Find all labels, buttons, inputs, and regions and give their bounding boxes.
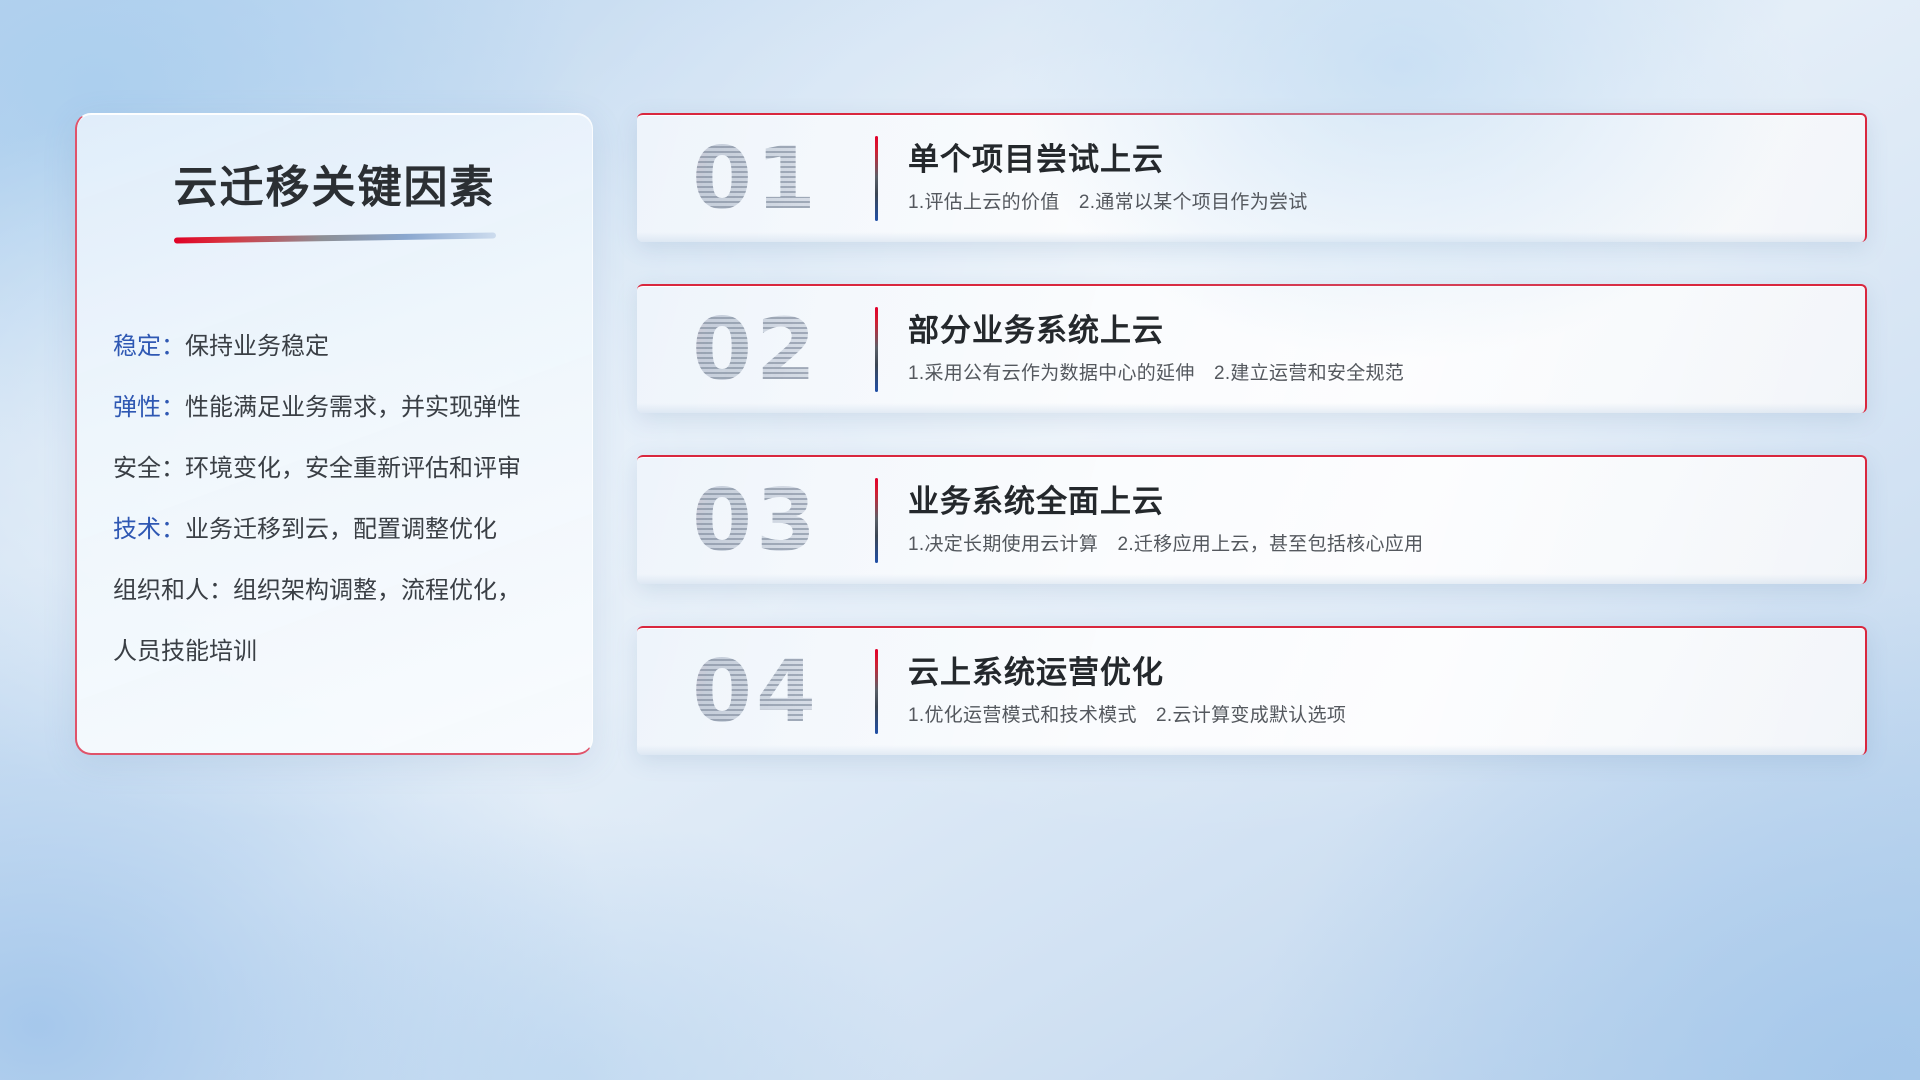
step-number: 04 [637,649,875,735]
step-title: 单个项目尝试上云 [908,141,1845,179]
factor-label: 弹性： [113,394,185,421]
step-divider-bar [875,307,878,392]
factor-label: 组织和人： [113,577,233,604]
list-item: 人员技能培训 [113,621,556,682]
step-card[interactable]: 03 业务系统全面上云 1.决定长期使用云计算 2.迁移应用上云，甚至包括核心应… [637,455,1867,584]
step-title: 部分业务系统上云 [908,312,1845,350]
factor-text: 保持业务稳定 [185,333,329,360]
factor-label: 稳定： [113,333,185,360]
factor-text: 业务迁移到云，配置调整优化 [185,516,497,543]
step-description: 1.采用公有云作为数据中心的延伸 2.建立运营和安全规范 [908,362,1845,387]
step-divider-bar [875,649,878,734]
title-underline-rule [174,232,496,243]
step-title: 业务系统全面上云 [908,483,1845,521]
factor-text: 人员技能培训 [113,638,257,665]
migration-steps-list: 01 单个项目尝试上云 1.评估上云的价值 2.通常以某个项目作为尝试 02 部… [637,113,1867,797]
list-item: 安全：环境变化，安全重新评估和评审 [113,438,556,499]
slide-canvas: 云迁移关键因素 稳定：保持业务稳定 弹性：性能满足业务需求，并实现弹性 安全：环… [0,0,1920,1080]
key-factors-panel: 云迁移关键因素 稳定：保持业务稳定 弹性：性能满足业务需求，并实现弹性 安全：环… [75,113,593,755]
page-title: 云迁移关键因素 [77,151,592,215]
factor-label: 安全： [113,455,185,482]
list-item: 技术：业务迁移到云，配置调整优化 [113,499,556,560]
step-description: 1.决定长期使用云计算 2.迁移应用上云，甚至包括核心应用 [908,533,1845,558]
list-item: 组织和人：组织架构调整，流程优化， [113,560,556,621]
step-body: 业务系统全面上云 1.决定长期使用云计算 2.迁移应用上云，甚至包括核心应用 [908,483,1865,558]
step-body: 云上系统运营优化 1.优化运营模式和技术模式 2.云计算变成默认选项 [908,654,1865,729]
step-card[interactable]: 01 单个项目尝试上云 1.评估上云的价值 2.通常以某个项目作为尝试 [637,113,1867,242]
factor-text: 环境变化，安全重新评估和评审 [185,455,521,482]
list-item: 弹性：性能满足业务需求，并实现弹性 [113,377,556,438]
factor-label: 技术： [113,516,185,543]
step-description: 1.评估上云的价值 2.通常以某个项目作为尝试 [908,191,1845,216]
step-body: 单个项目尝试上云 1.评估上云的价值 2.通常以某个项目作为尝试 [908,141,1865,216]
step-number: 02 [637,307,875,393]
factor-text: 组织架构调整，流程优化， [233,577,521,604]
step-number: 03 [637,478,875,564]
step-description: 1.优化运营模式和技术模式 2.云计算变成默认选项 [908,704,1845,729]
step-card[interactable]: 02 部分业务系统上云 1.采用公有云作为数据中心的延伸 2.建立运营和安全规范 [637,284,1867,413]
step-body: 部分业务系统上云 1.采用公有云作为数据中心的延伸 2.建立运营和安全规范 [908,312,1865,387]
step-card[interactable]: 04 云上系统运营优化 1.优化运营模式和技术模式 2.云计算变成默认选项 [637,626,1867,755]
list-item: 稳定：保持业务稳定 [113,316,556,377]
key-factors-list: 稳定：保持业务稳定 弹性：性能满足业务需求，并实现弹性 安全：环境变化，安全重新… [77,316,592,682]
step-divider-bar [875,478,878,563]
step-title: 云上系统运营优化 [908,654,1845,692]
step-divider-bar [875,136,878,221]
factor-text: 性能满足业务需求，并实现弹性 [185,394,521,421]
step-number: 01 [637,136,875,222]
